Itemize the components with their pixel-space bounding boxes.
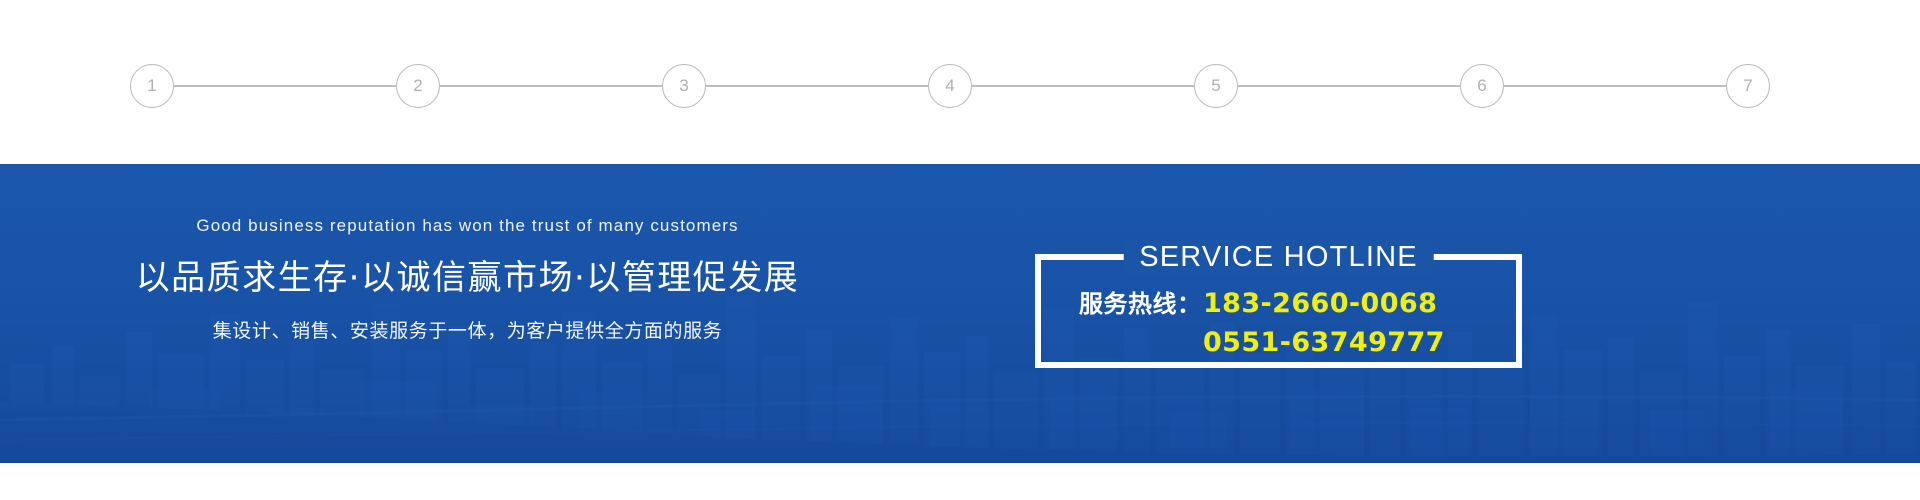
step-node-2[interactable]: 2 xyxy=(396,64,440,108)
hotline-row-secondary[interactable]: 服务热线： 0551-63749777 xyxy=(1035,323,1522,358)
step-node-1[interactable]: 1 xyxy=(130,64,174,108)
hotline-number-secondary[interactable]: 0551-63749777 xyxy=(1203,327,1445,358)
slogan-block: Good business reputation has won the tru… xyxy=(0,216,935,343)
step-node-7[interactable]: 7 xyxy=(1726,64,1770,108)
hotline-label: 服务热线： xyxy=(1079,284,1203,319)
slogan-english-line: Good business reputation has won the tru… xyxy=(0,216,935,236)
promo-banner: Good business reputation has won the tru… xyxy=(0,164,1920,463)
step-connector-2 xyxy=(440,85,662,87)
hotline-number-list: 服务热线： 183-2660-0068 服务热线： 0551-63749777 xyxy=(1035,284,1522,358)
slogan-headline: 以品质求生存·以诚信赢市场·以管理促发展 xyxy=(0,250,935,299)
bottom-white-strip xyxy=(0,463,1920,500)
step-connector-6 xyxy=(1504,85,1726,87)
hotline-row-primary[interactable]: 服务热线： 183-2660-0068 xyxy=(1035,284,1522,319)
hotline-number-primary[interactable]: 183-2660-0068 xyxy=(1203,288,1437,319)
slogan-subline: 集设计、销售、安装服务于一体，为客户提供全方面的服务 xyxy=(0,316,935,343)
stepper-strip: 1 2 3 4 5 6 7 xyxy=(0,0,1920,164)
hotline-block: SERVICE HOTLINE 服务热线： 183-2660-0068 服务热线… xyxy=(1035,240,1522,368)
step-pagination: 1 2 3 4 5 6 7 xyxy=(130,64,1770,108)
step-connector-5 xyxy=(1238,85,1460,87)
step-node-4[interactable]: 4 xyxy=(928,64,972,108)
step-connector-1 xyxy=(174,85,396,87)
step-node-6[interactable]: 6 xyxy=(1460,64,1504,108)
step-node-5[interactable]: 5 xyxy=(1194,64,1238,108)
step-connector-4 xyxy=(972,85,1194,87)
step-connector-3 xyxy=(706,85,928,87)
step-node-3[interactable]: 3 xyxy=(662,64,706,108)
hotline-title: SERVICE HOTLINE xyxy=(1123,240,1434,274)
